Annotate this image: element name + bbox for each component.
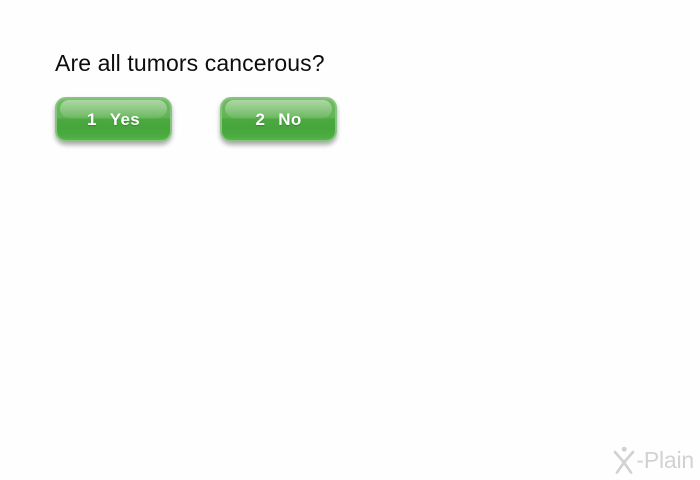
answer-yes-number: 1	[87, 110, 97, 130]
answer-no-label: 2 No	[255, 110, 301, 130]
answer-yes-button[interactable]: 1 Yes	[55, 97, 172, 142]
answer-yes-text: Yes	[110, 110, 140, 130]
answer-no-button[interactable]: 2 No	[220, 97, 337, 142]
answer-no-number: 2	[255, 110, 265, 130]
xplain-logo: -Plain	[609, 442, 694, 476]
answer-yes-label: 1 Yes	[87, 110, 140, 130]
answer-no-text: No	[278, 110, 301, 130]
x-plain-person-icon	[609, 443, 639, 475]
xplain-logo-text: -Plain	[636, 449, 694, 472]
question-text: Are all tumors cancerous?	[55, 50, 325, 77]
